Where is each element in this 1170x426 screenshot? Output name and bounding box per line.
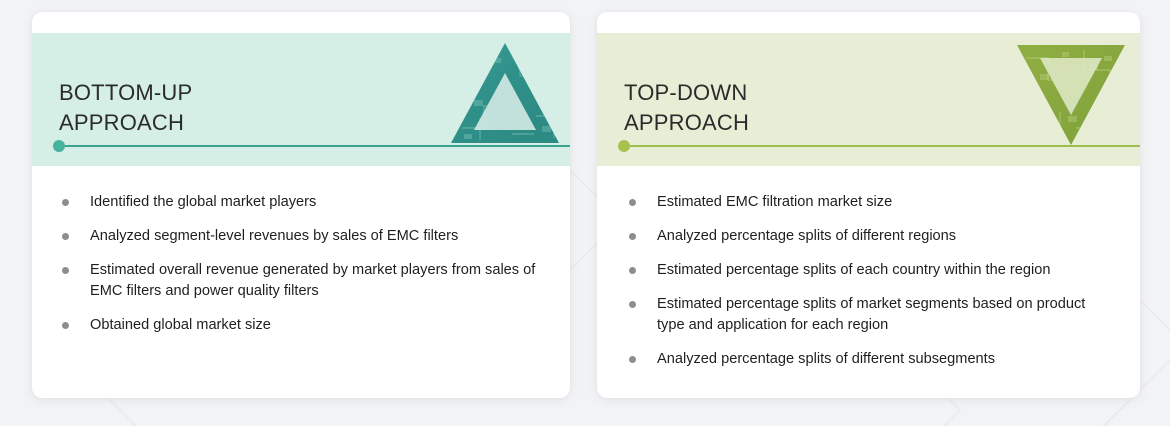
bullet-marker-icon [629,301,636,308]
list-item: Analyzed percentage splits of different … [627,349,1106,370]
header-rule-top-down [624,145,1140,147]
bullet-marker-icon [629,267,636,274]
list-item: Estimated percentage splits of each coun… [627,260,1106,281]
bullet-marker-icon [62,267,69,274]
card-title-top-down: TOP-DOWN APPROACH [624,78,749,138]
rule-line [630,145,1140,147]
triangle-up-icon [450,42,560,144]
bullet-marker-icon [629,199,636,206]
triangle-down-icon [1016,44,1126,146]
rule-line [65,145,570,147]
list-item-label: Analyzed percentage splits of different … [657,228,956,244]
list-item-label: Estimated percentage splits of each coun… [657,262,1050,278]
list-item: Analyzed percentage splits of different … [627,226,1106,247]
bullet-marker-icon [629,233,636,240]
bullet-marker-icon [62,233,69,240]
bullet-marker-icon [62,199,69,206]
list-item-label: Analyzed segment-level revenues by sales… [90,228,458,244]
list-item-label: Identified the global market players [90,194,316,210]
list-item: Obtained global market size [60,315,536,336]
card-bottom-up-approach: BOTTOM-UP APPROACH Identified the global… [32,12,570,398]
bullet-marker-icon [62,322,69,329]
list-item: Analyzed segment-level revenues by sales… [60,226,536,247]
list-item: Identified the global market players [60,192,536,213]
rule-dot-icon [618,140,630,152]
list-item-label: Estimated percentage splits of market se… [657,296,1085,333]
rule-dot-icon [53,140,65,152]
list-item-label: Estimated overall revenue generated by m… [90,262,535,299]
cards-stage: BOTTOM-UP APPROACH Identified the global… [0,0,1170,426]
list-item: Estimated percentage splits of market se… [627,294,1106,336]
bullet-list-top-down: Estimated EMC filtration market size Ana… [597,166,1140,370]
card-top-down-approach: TOP-DOWN APPROACH Estimated EMC filtrati… [597,12,1140,398]
list-item-label: Estimated EMC filtration market size [657,194,892,210]
card-header-bottom-up: BOTTOM-UP APPROACH [32,33,570,166]
bullet-marker-icon [629,356,636,363]
bullet-list-bottom-up: Identified the global market players Ana… [32,166,570,336]
header-rule-bottom-up [59,145,570,147]
card-header-top-down: TOP-DOWN APPROACH [597,33,1140,166]
list-item-label: Obtained global market size [90,317,271,333]
list-item-label: Analyzed percentage splits of different … [657,351,995,367]
list-item: Estimated overall revenue generated by m… [60,260,536,302]
card-title-bottom-up: BOTTOM-UP APPROACH [59,78,192,138]
list-item: Estimated EMC filtration market size [627,192,1106,213]
